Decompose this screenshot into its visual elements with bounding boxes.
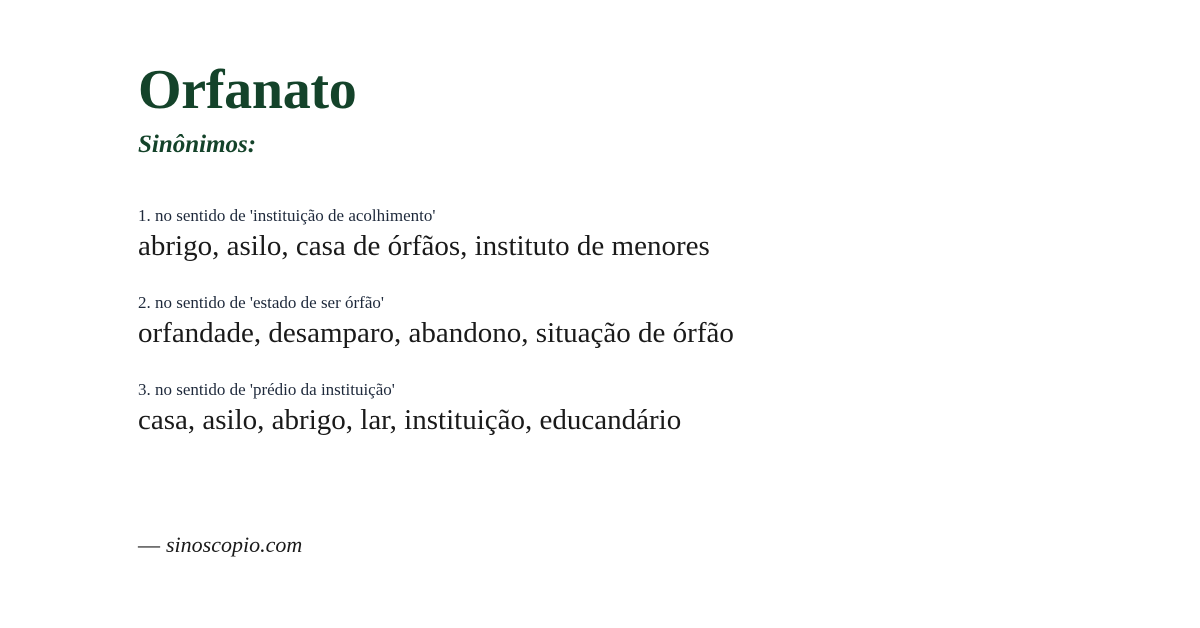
sense-entry: 3. no sentido de 'prédio da instituição'… — [138, 379, 1140, 440]
sense-label: 1. no sentido de 'instituição de acolhim… — [138, 205, 1140, 226]
sense-label: 2. no sentido de 'estado de ser órfão' — [138, 292, 1140, 313]
thesaurus-card: Orfanato Sinônimos: 1. no sentido de 'in… — [0, 0, 1200, 628]
sense-synonyms: abrigo, asilo, casa de órfãos, instituto… — [138, 226, 1140, 266]
sense-synonyms: orfandade, desamparo, abandono, situação… — [138, 313, 1140, 353]
source-attribution: —sinoscopio.com — [138, 532, 302, 558]
em-dash-icon: — — [138, 532, 166, 557]
synonyms-heading: Sinônimos: — [138, 118, 1140, 157]
sense-entry: 1. no sentido de 'instituição de acolhim… — [138, 205, 1140, 266]
sense-entry: 2. no sentido de 'estado de ser órfão' o… — [138, 292, 1140, 353]
source-name: sinoscopio.com — [166, 532, 302, 557]
sense-label: 3. no sentido de 'prédio da instituição' — [138, 379, 1140, 400]
sense-synonyms: casa, asilo, abrigo, lar, instituição, e… — [138, 400, 1140, 440]
sense-list: 1. no sentido de 'instituição de acolhim… — [138, 157, 1140, 440]
page-title: Orfanato — [138, 0, 1140, 118]
